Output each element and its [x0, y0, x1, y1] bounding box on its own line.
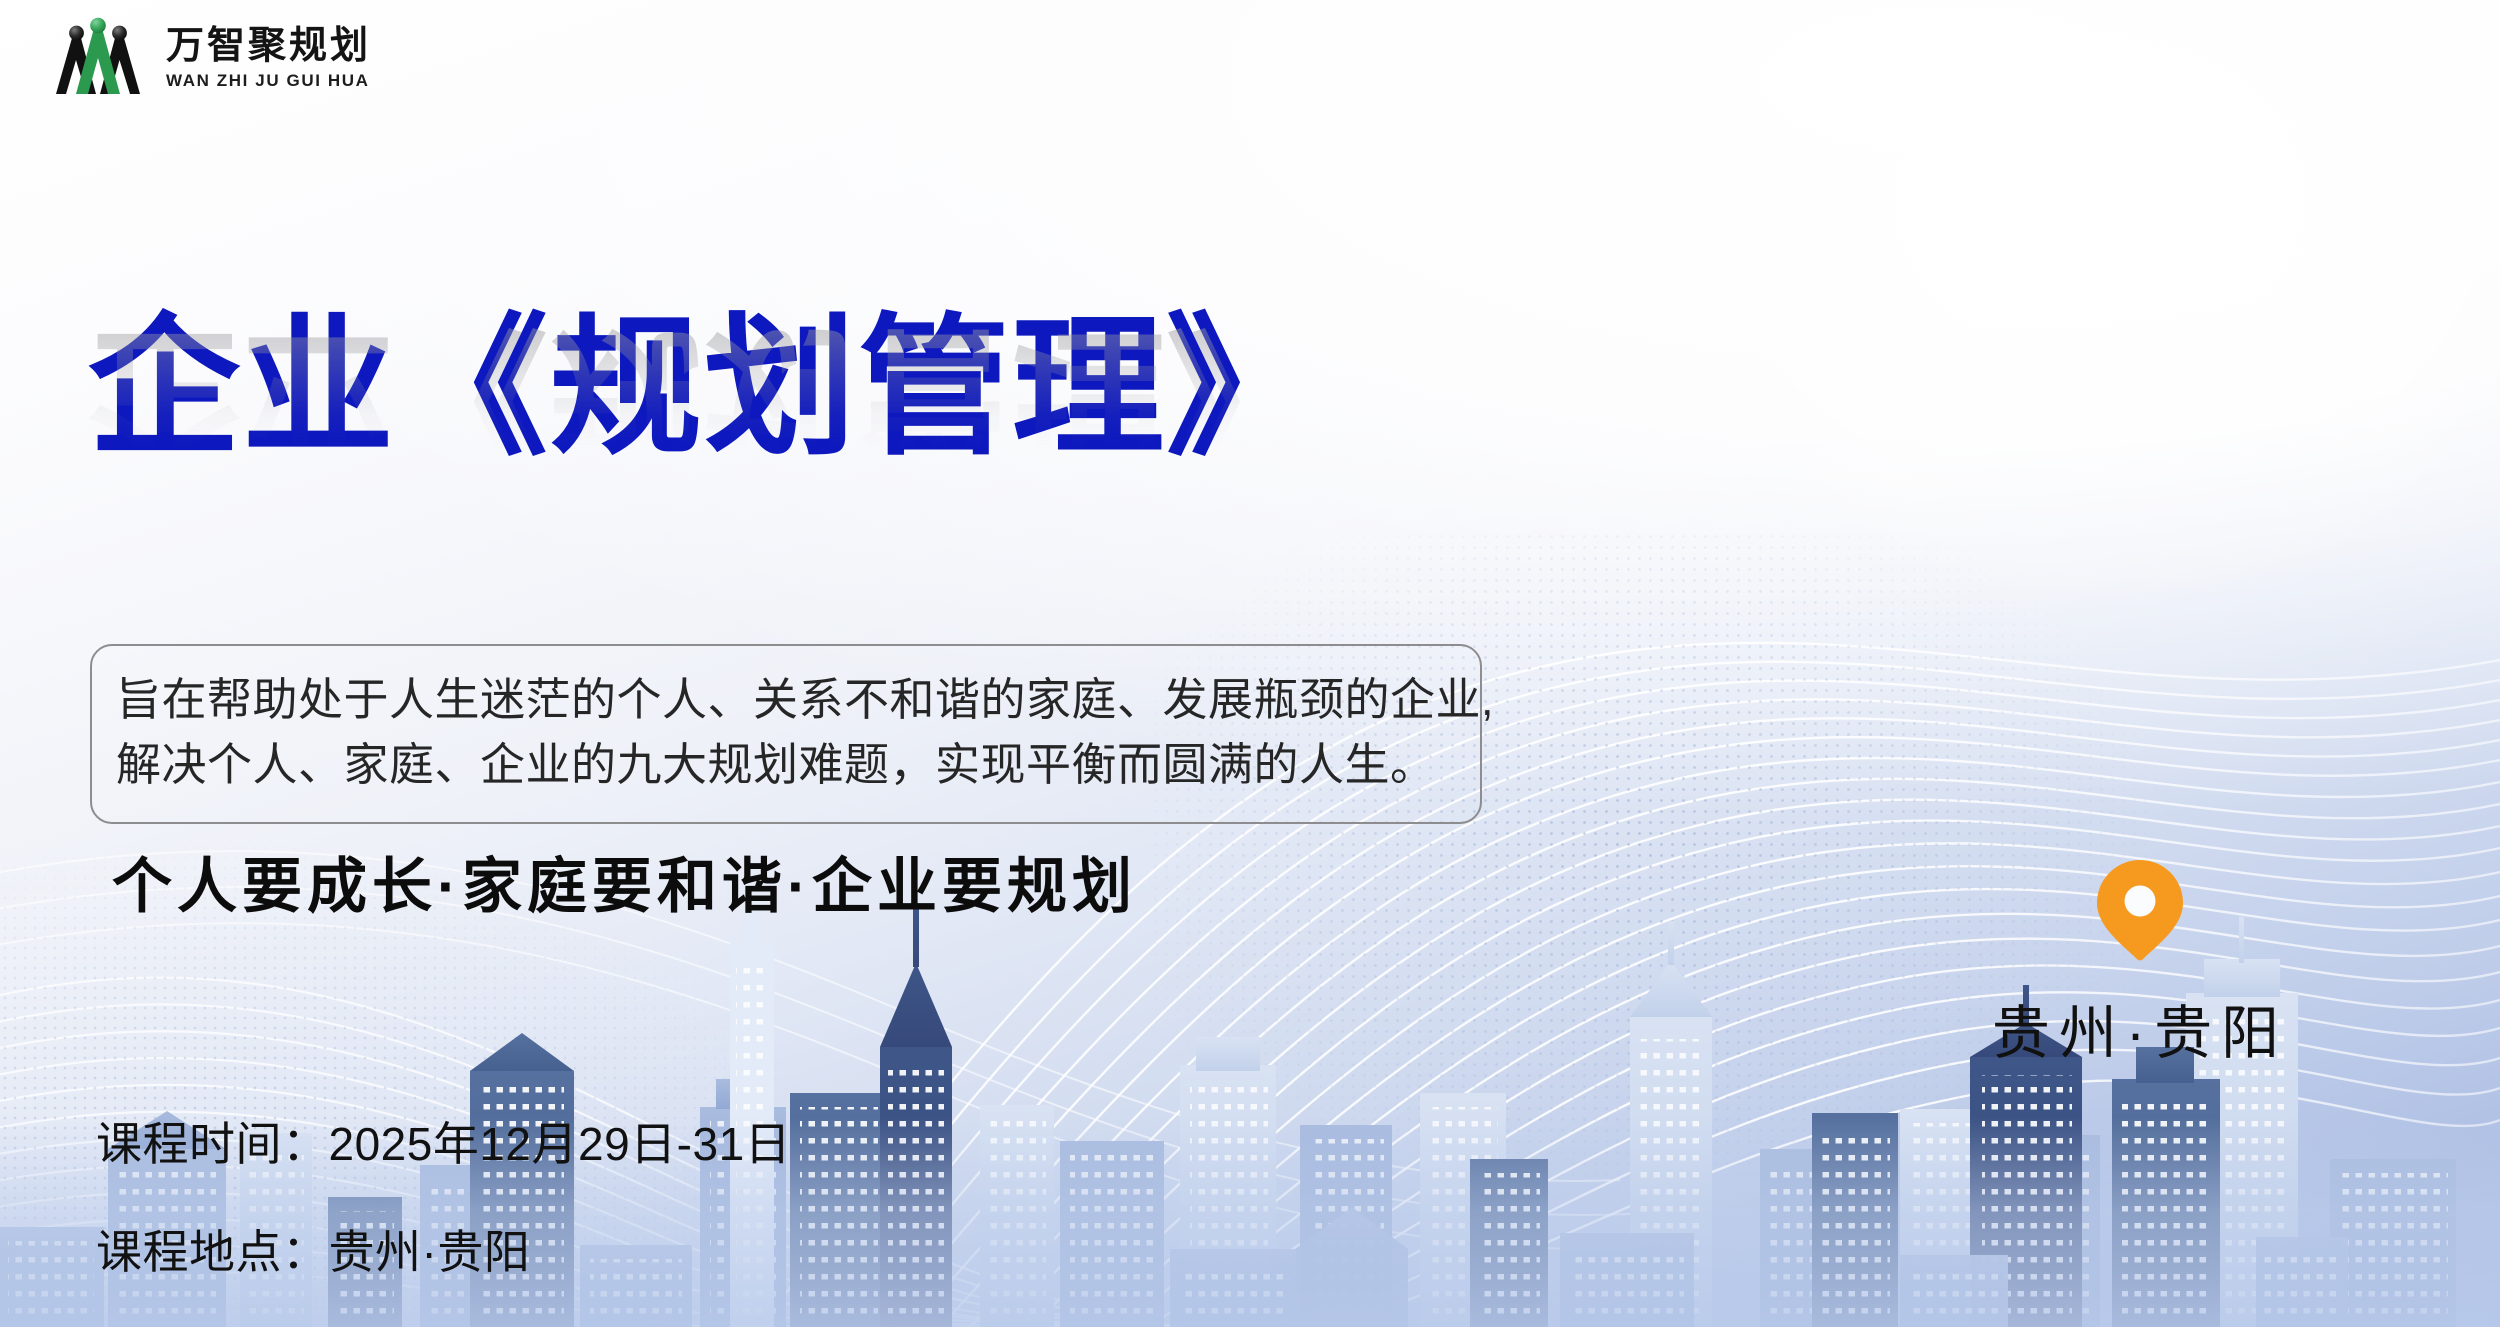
three-people-logo-icon	[48, 16, 148, 100]
location-badge: 贵州·贵阳	[1930, 858, 2350, 1070]
course-time: 课程时间：2025年12月29日-31日	[96, 1108, 791, 1174]
hero-title-block: 企业《规划管理》 企业《规划管理》	[88, 312, 1648, 632]
course-info-block: 课程时间：2025年12月29日-31日 课程地点：贵州·贵阳	[96, 1108, 791, 1282]
description-line-1: 旨在帮助处于人生迷茫的个人、关系不和谐的家庭、发展瓶颈的企业,	[116, 668, 1456, 733]
page-title: 企业《规划管理》	[88, 312, 1648, 464]
brand-wordmark: 万智聚规划 WAN ZHI JU GUI HUA	[166, 27, 371, 89]
course-location: 课程地点：贵州·贵阳	[96, 1216, 791, 1282]
location-label: 贵州·贵阳	[1992, 986, 2288, 1070]
promo-poster: 万智聚规划 WAN ZHI JU GUI HUA 企业《规划管理》 企业《规划管…	[0, 0, 2500, 1327]
slogan-text: 个人要成长·家庭要和谐·企业要规划	[112, 838, 1137, 925]
brand-logo[interactable]: 万智聚规划 WAN ZHI JU GUI HUA	[48, 16, 371, 100]
map-pin-icon	[2094, 858, 2186, 962]
description-box: 旨在帮助处于人生迷茫的个人、关系不和谐的家庭、发展瓶颈的企业, 解决个人、家庭、…	[90, 644, 1482, 824]
brand-name-pinyin: WAN ZHI JU GUI HUA	[166, 72, 371, 89]
brand-name-cn: 万智聚规划	[166, 27, 371, 65]
description-line-2: 解决个人、家庭、企业的九大规划难题，实现平衡而圆满的人生。	[116, 733, 1456, 798]
